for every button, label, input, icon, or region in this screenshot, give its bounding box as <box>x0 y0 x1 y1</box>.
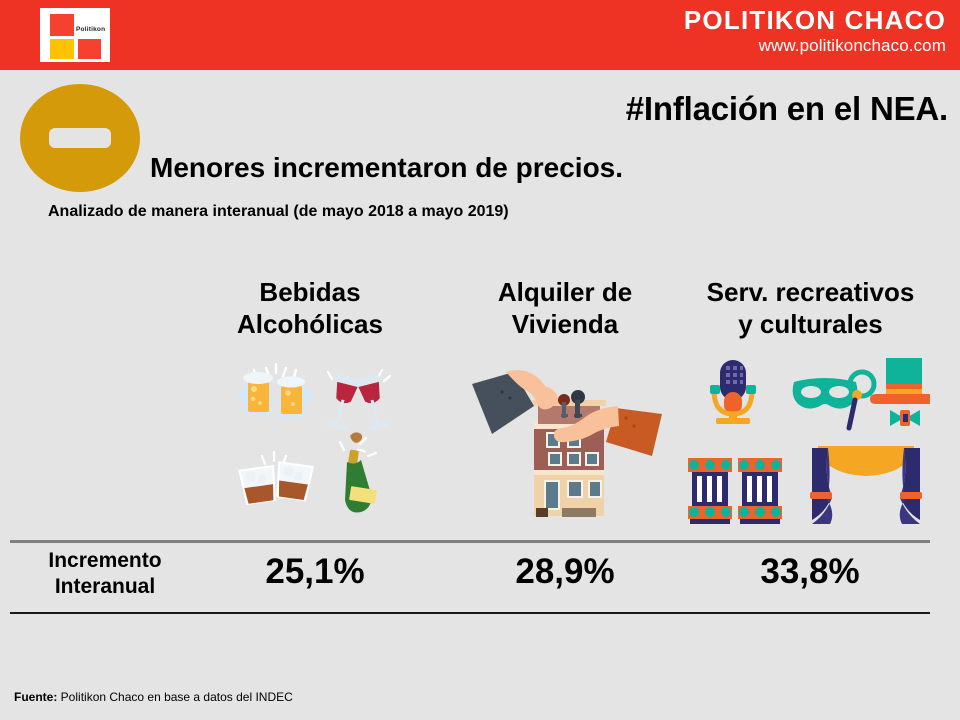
minus-sign-bar <box>49 128 111 148</box>
logo-square-yellow <box>50 39 74 59</box>
top-hat-bowtie-icon <box>870 358 930 426</box>
column-header-bebidas: Bebidas Alcohólicas <box>210 276 410 340</box>
value-servicios-recreativos: 33,8% <box>710 552 910 592</box>
champagne-bottle-icon <box>340 432 377 512</box>
column-header-line1: Serv. recreativos <box>668 276 953 308</box>
logo-square-red-bottom <box>78 39 101 59</box>
row-label-incremento-interanual: Incremento Interanual <box>10 548 200 600</box>
beer-mugs-icon <box>238 364 312 418</box>
source-text: Politikon Chaco en base a datos del INDE… <box>57 690 292 704</box>
column-header-line1: Bebidas <box>210 276 410 308</box>
page-title: #Inflación en el NEA. <box>626 90 948 128</box>
row-label-line2: Interanual <box>10 574 200 600</box>
column-header-line2: Vivienda <box>465 308 665 340</box>
column-header-line2: Alcohólicas <box>210 308 410 340</box>
page-subtitle: Menores incrementaron de precios. <box>150 152 623 184</box>
column-header-alquiler: Alquiler de Vivienda <box>465 276 665 340</box>
recreation-culture-illustration <box>678 352 930 524</box>
page-note: Analizado de manera interanual (de mayo … <box>48 203 509 221</box>
carnival-mask-icon <box>793 372 874 428</box>
source-label: Fuente: <box>14 690 57 704</box>
classical-columns-icon <box>684 458 786 524</box>
brand-website-url[interactable]: www.politikonchaco.com <box>684 35 946 57</box>
minus-circle-icon <box>20 84 140 192</box>
brand-header-bar: Politikon POLITIKON CHACO www.politikonc… <box>0 0 960 70</box>
value-bebidas-alcoholicas: 25,1% <box>215 552 415 592</box>
column-header-line2: y culturales <box>668 308 953 340</box>
brand-block: POLITIKON CHACO www.politikonchaco.com <box>684 5 946 57</box>
microphone-icon <box>710 360 756 424</box>
row-label-line1: Incremento <box>10 548 200 574</box>
column-header-servicios: Serv. recreativos y culturales <box>668 276 953 340</box>
table-rule-bottom <box>10 612 930 614</box>
brand-name: POLITIKON CHACO <box>684 5 946 35</box>
theatre-curtain-icon <box>810 446 922 524</box>
table-rule-top <box>10 540 930 543</box>
whiskey-glasses-icon <box>239 452 312 504</box>
logo-wordmark: Politikon <box>76 26 105 33</box>
value-alquiler-vivienda: 28,9% <box>465 552 665 592</box>
source-footnote: Fuente: Politikon Chaco en base a datos … <box>14 690 293 704</box>
house-keys-handover-illustration <box>462 356 672 518</box>
logo-square-red-top <box>50 14 74 36</box>
politikon-logo: Politikon <box>40 8 110 62</box>
alcoholic-drinks-illustration <box>232 358 402 518</box>
wine-glasses-icon <box>325 370 392 432</box>
column-header-line1: Alquiler de <box>465 276 665 308</box>
